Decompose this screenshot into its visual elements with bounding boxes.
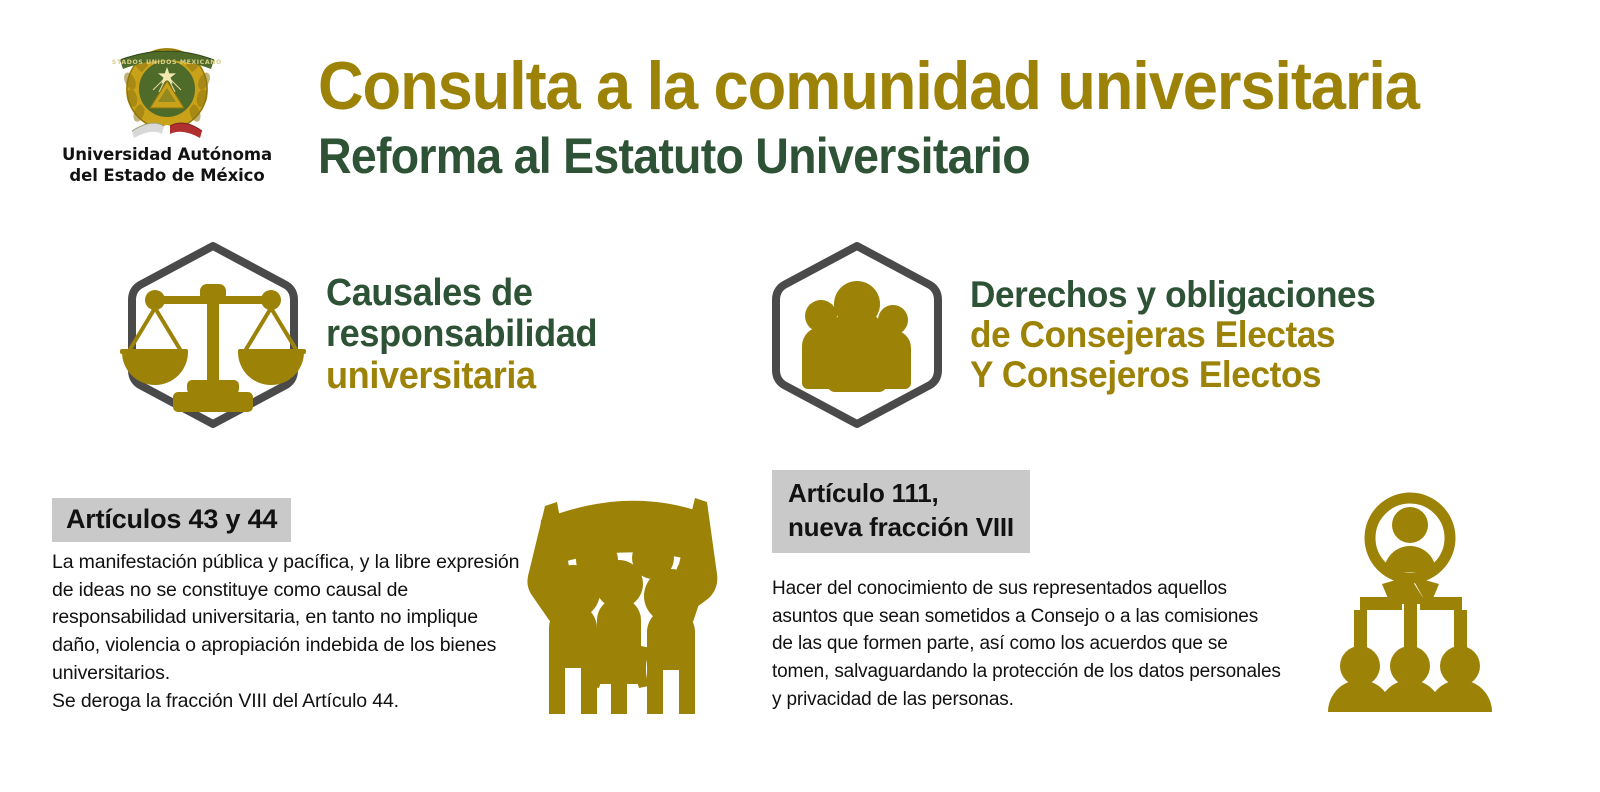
panel-body: La manifestación pública y pacífica, y l… bbox=[52, 549, 522, 715]
article-panel-43-44: Artículos 43 y 44 La manifestación públi… bbox=[52, 498, 522, 715]
article-panel-111: Artículo 111, nueva fracción VIII Hacer … bbox=[772, 470, 1282, 714]
panel-heading: Artículo 111, nueva fracción VIII bbox=[772, 470, 1030, 553]
topic-line: Derechos y obligaciones bbox=[970, 275, 1375, 315]
topic-line: Causales de bbox=[326, 273, 597, 314]
svg-text:ESTADOS UNIDOS MEXICANOS: ESTADOS UNIDOS MEXICANOS bbox=[112, 59, 222, 66]
protest-crowd-with-banner-icon bbox=[505, 468, 733, 714]
organization-chart-people-icon bbox=[1292, 480, 1528, 712]
topic-label: Derechos y obligaciones de Consejeras El… bbox=[970, 275, 1397, 395]
panel-heading: Artículos 43 y 44 bbox=[52, 498, 291, 542]
panel-body: Hacer del conocimiento de sus representa… bbox=[772, 575, 1282, 715]
scales-of-justice-icon bbox=[118, 240, 308, 430]
institution-brand-block: ESTADOS UNIDOS MEXICANOS Universidad Aut… bbox=[52, 36, 282, 186]
group-of-people-icon bbox=[762, 240, 952, 430]
page-subtitle: Reforma al Estatuto Universitario bbox=[318, 131, 1471, 181]
topic-line: de Consejeras Electas bbox=[970, 315, 1375, 355]
topic-label: Causales de responsabilidad universitari… bbox=[326, 273, 611, 396]
infographic-page: ESTADOS UNIDOS MEXICANOS Universidad Aut… bbox=[0, 0, 1600, 792]
topic-line: Y Consejeros Electos bbox=[970, 355, 1375, 395]
topic-causales-responsabilidad: Causales de responsabilidad universitari… bbox=[118, 240, 611, 430]
institution-name: Universidad Autónoma del Estado de Méxic… bbox=[52, 144, 282, 186]
uaemex-crest-icon: ESTADOS UNIDOS MEXICANOS bbox=[52, 36, 282, 140]
topic-line: responsabilidad bbox=[326, 314, 597, 355]
topic-line: universitaria bbox=[326, 356, 597, 397]
page-title: Consulta a la comunidad universitaria bbox=[318, 52, 1471, 120]
title-block: Consulta a la comunidad universitaria Re… bbox=[318, 52, 1558, 181]
topic-derechos-obligaciones: Derechos y obligaciones de Consejeras El… bbox=[762, 240, 1397, 430]
